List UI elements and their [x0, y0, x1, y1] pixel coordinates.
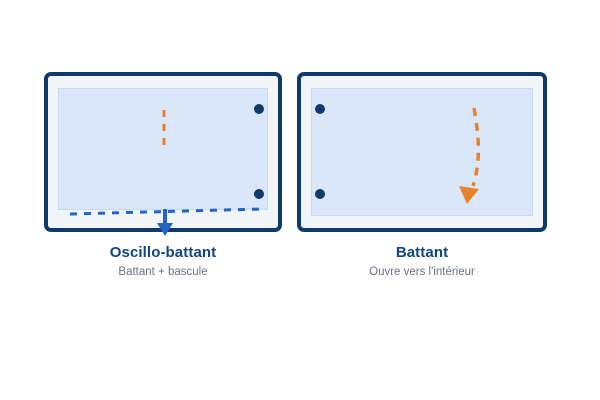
window-frame [44, 72, 282, 232]
option-title: Battant [297, 244, 547, 261]
hinge-dot-bottom [254, 189, 264, 199]
glass-pane [311, 88, 533, 216]
window-option-battant[interactable]: Battant Ouvre vers l'intérieur [297, 72, 547, 232]
caption-block: Battant Ouvre vers l'intérieur [297, 244, 547, 278]
window-frame [297, 72, 547, 232]
window-option-oscillo-battant[interactable]: Oscillo-battant Battant + bascule [44, 72, 282, 232]
glass-pane [58, 88, 268, 210]
option-subtitle: Ouvre vers l'intérieur [297, 266, 547, 278]
hinge-dot-top [254, 104, 264, 114]
option-subtitle: Battant + bascule [44, 266, 282, 278]
tilt-arrow-head [157, 223, 173, 236]
hinge-dot-top [315, 104, 325, 114]
caption-block: Oscillo-battant Battant + bascule [44, 244, 282, 278]
hinge-dot-bottom [315, 189, 325, 199]
option-title: Oscillo-battant [44, 244, 282, 261]
window-type-diagram: Oscillo-battant Battant + bascule Battan… [0, 0, 600, 400]
